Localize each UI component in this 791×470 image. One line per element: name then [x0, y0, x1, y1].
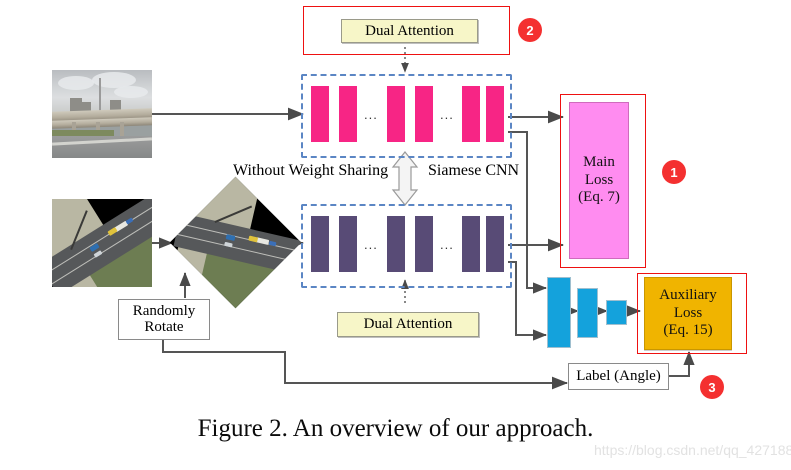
figure-overview-diagram: Randomly Rotate Dual Attention 2 ... ...…: [0, 0, 791, 470]
aux-loss-label-line3: (Eq. 15): [663, 322, 712, 340]
aerial-branch-block: [415, 216, 433, 272]
weight-sharing-double-arrow: [393, 152, 417, 205]
aerial-branch-block: [339, 216, 357, 272]
main-loss-label-line1: Main: [583, 154, 615, 172]
dual-attention-top-label: Dual Attention: [365, 23, 454, 40]
aerial-branch-block: [462, 216, 480, 272]
aerial-branch-block: [486, 216, 504, 272]
ground-branch-block: [486, 86, 504, 142]
fc-block-3: [606, 300, 627, 325]
badge-3-text: 3: [708, 380, 715, 395]
ground-branch-ellipsis: ...: [364, 107, 378, 122]
main-loss-label-line3: (Eq. 7): [578, 189, 620, 207]
ground-branch-block: [339, 86, 357, 142]
badge-2: 2: [518, 18, 542, 42]
aerial-branch-ellipsis: ...: [440, 237, 454, 252]
ground-branch-block: [387, 86, 405, 142]
rotated-aerial-photo: [170, 177, 302, 309]
ground-branch-group: [301, 74, 512, 158]
ground-branch-block: [462, 86, 480, 142]
ground-branch-block: [415, 86, 433, 142]
siamese-cnn-label: Siamese CNN: [428, 162, 519, 180]
ground-level-photo: [52, 70, 152, 158]
watermark-text: https://blog.csdn.net/qq_42718887: [594, 442, 791, 458]
aerial-branch-ellipsis: ...: [364, 237, 378, 252]
aux-loss-label-line2: Loss: [674, 305, 702, 323]
dual-attention-top-box: Dual Attention: [341, 19, 478, 43]
fc-block-1: [547, 277, 571, 348]
randomly-rotate-label-line2: Rotate: [144, 320, 183, 336]
badge-3: 3: [700, 375, 724, 399]
fc-block-2: [577, 288, 598, 338]
dual-attention-bottom-box: Dual Attention: [337, 312, 479, 337]
badge-2-text: 2: [526, 23, 533, 38]
aerial-branch-block: [387, 216, 405, 272]
aerial-photo: [52, 199, 152, 287]
figure-caption: Figure 2. An overview of our approach.: [0, 415, 791, 443]
randomly-rotate-box: Randomly Rotate: [118, 299, 210, 340]
without-weight-sharing-label: Without Weight Sharing: [233, 162, 388, 180]
figure-caption-text: Figure 2. An overview of our approach.: [198, 415, 594, 442]
main-loss-box: Main Loss (Eq. 7): [569, 102, 629, 259]
badge-1: 1: [662, 160, 686, 184]
aerial-branch-group: [301, 204, 512, 288]
label-angle-text: Label (Angle): [576, 369, 661, 385]
aux-loss-label-line1: Auxiliary: [659, 287, 717, 305]
aerial-branch-block: [311, 216, 329, 272]
auxiliary-loss-box: Auxiliary Loss (Eq. 15): [644, 277, 732, 350]
label-angle-box: Label (Angle): [568, 363, 669, 390]
main-loss-label-line2: Loss: [585, 172, 613, 190]
randomly-rotate-label-line1: Randomly: [133, 304, 196, 320]
watermark: https://blog.csdn.net/qq_42718887: [594, 442, 791, 458]
dual-attention-bottom-label: Dual Attention: [364, 316, 453, 333]
badge-1-text: 1: [670, 165, 677, 180]
ground-branch-ellipsis: ...: [440, 107, 454, 122]
ground-branch-block: [311, 86, 329, 142]
